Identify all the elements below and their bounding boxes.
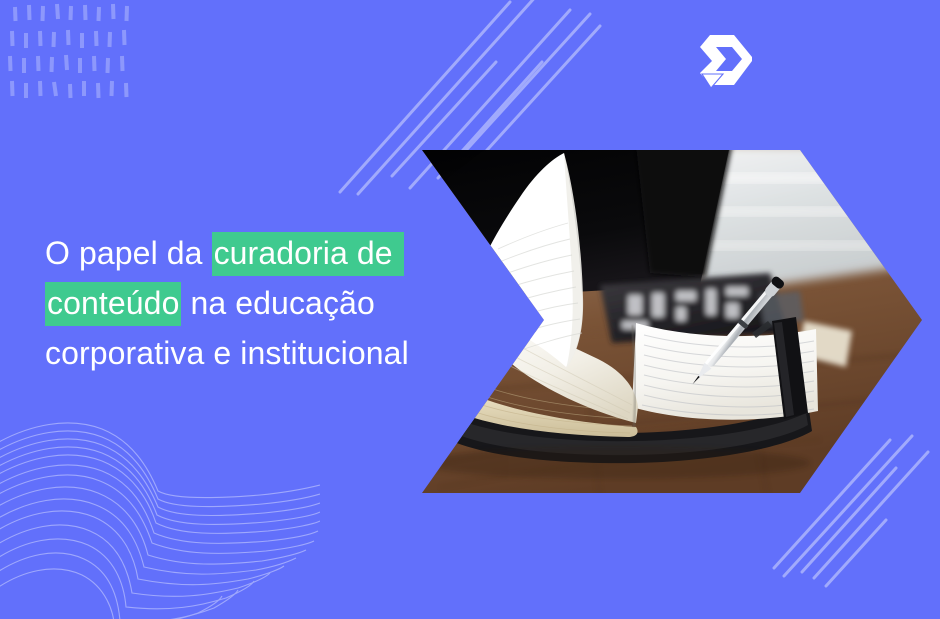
photo-artwork bbox=[400, 145, 930, 500]
open-notebook-with-pen-photo bbox=[400, 145, 930, 500]
page-title: O papel da curadoria de conteúdo na educ… bbox=[45, 228, 475, 378]
banner-canvas: O papel da curadoria de conteúdo na educ… bbox=[0, 0, 940, 619]
wave-contour-pattern-icon bbox=[0, 395, 320, 619]
headline-part-plain-1: O papel da bbox=[45, 235, 212, 271]
dash-tick-pattern-icon bbox=[0, 0, 160, 120]
stylized-d-logo bbox=[690, 33, 762, 95]
